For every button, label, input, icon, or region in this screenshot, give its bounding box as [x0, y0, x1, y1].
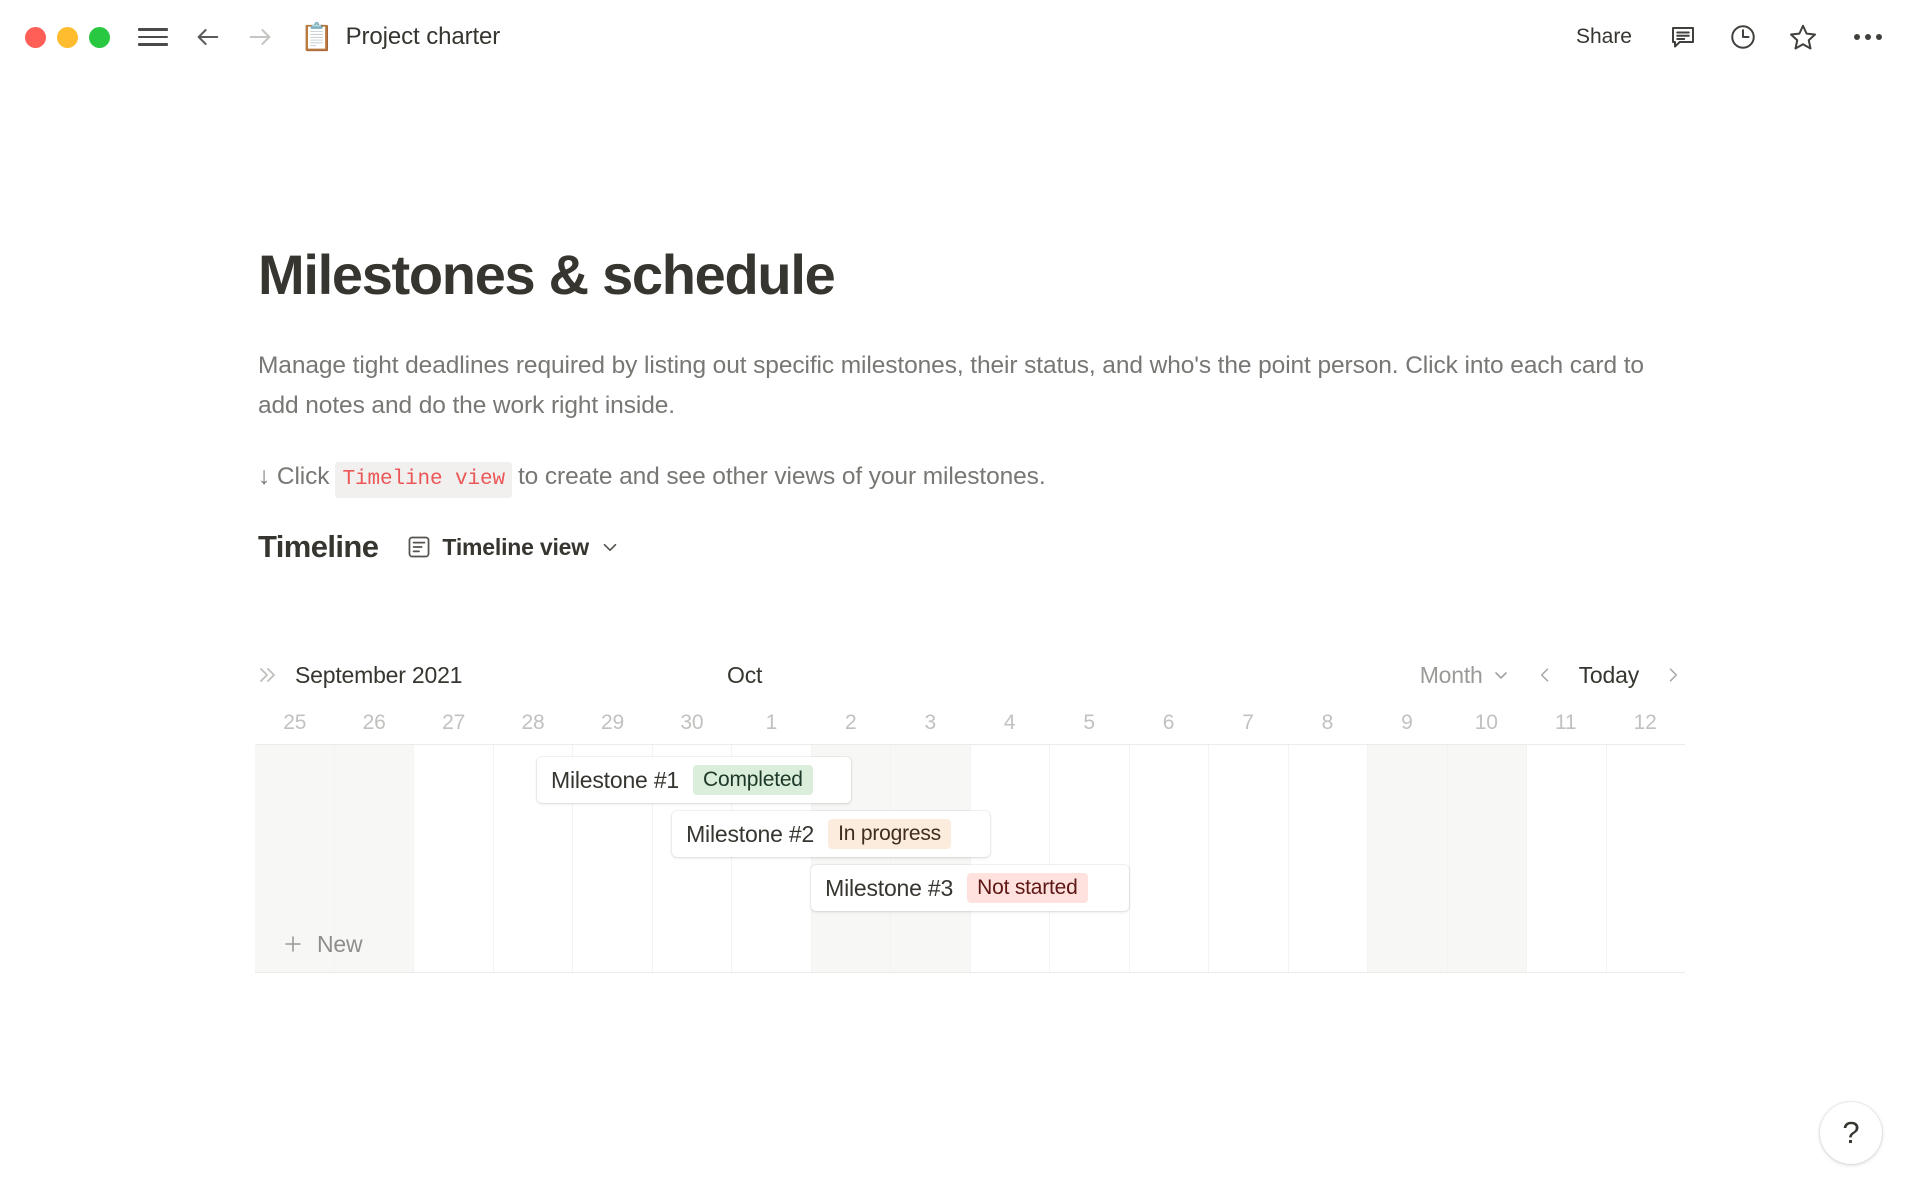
timeline-view-label: Timeline view	[442, 534, 589, 561]
history-clock-icon[interactable]	[1728, 22, 1758, 52]
maximize-window-button[interactable]	[89, 27, 110, 48]
chevron-down-icon	[1491, 665, 1511, 685]
ruler-date-cell: 12	[1605, 711, 1684, 735]
timeline-view-icon	[406, 534, 432, 560]
page-hint: ↓ Click Timeline view to create and see …	[258, 459, 1046, 498]
back-arrow-icon[interactable]	[194, 23, 222, 51]
timeline-board: September 2021 Oct Month Today 25	[255, 649, 1685, 973]
more-options-icon[interactable]	[1848, 28, 1888, 46]
minimize-window-button[interactable]	[57, 27, 78, 48]
ruler-date-cell: 2	[811, 711, 890, 735]
timeline-bar-title: Milestone #2	[686, 821, 814, 848]
ruler-date-cell: 27	[414, 711, 493, 735]
timeline-bar[interactable]: Milestone #2In progress	[672, 811, 990, 857]
ruler-date-cell: 1	[732, 711, 811, 735]
comment-icon[interactable]	[1668, 22, 1698, 52]
navigation-arrows	[194, 23, 274, 51]
plus-icon	[281, 932, 305, 956]
timeline-toolbar: September 2021 Oct Month Today	[255, 649, 1685, 701]
document-title: Project charter	[346, 23, 501, 51]
ruler-date-cell: 10	[1447, 711, 1526, 735]
document-breadcrumb[interactable]: 📋 Project charter	[300, 23, 500, 51]
ruler-date-cell: 25	[255, 711, 334, 735]
add-new-item-button[interactable]: New	[255, 916, 388, 972]
timeline-heading: Timeline	[258, 529, 378, 565]
current-month-label: September 2021	[295, 662, 462, 689]
timeline-month-nav: September 2021	[255, 662, 462, 689]
next-period-icon[interactable]	[1661, 663, 1685, 687]
close-window-button[interactable]	[25, 27, 46, 48]
sidebar-toggle-icon[interactable]	[138, 25, 168, 49]
ruler-date-cell: 28	[493, 711, 572, 735]
ruler-date-cell: 3	[891, 711, 970, 735]
ruler-date-cell: 26	[334, 711, 413, 735]
help-button[interactable]: ?	[1820, 1102, 1882, 1164]
previous-period-icon[interactable]	[1533, 663, 1557, 687]
ruler-date-cell: 9	[1367, 711, 1446, 735]
hint-code-chip: Timeline view	[335, 462, 512, 498]
next-month-label: Oct	[727, 662, 762, 689]
ruler-date-cell: 7	[1208, 711, 1287, 735]
timeline-grid: Milestone #1CompletedMilestone #2In prog…	[255, 745, 1685, 973]
collapse-double-chevron-icon[interactable]	[255, 663, 279, 687]
ruler-date-cell: 8	[1288, 711, 1367, 735]
timeline-bar[interactable]: Milestone #1Completed	[537, 757, 851, 803]
window-titlebar: 📋 Project charter Share	[0, 0, 1920, 74]
forward-arrow-icon[interactable]	[246, 23, 274, 51]
timeline-bar[interactable]: Milestone #3Not started	[811, 865, 1129, 911]
star-icon[interactable]	[1788, 22, 1818, 52]
chevron-down-icon	[599, 536, 621, 558]
ruler-date-cell: 4	[970, 711, 1049, 735]
ruler-date-cell: 29	[573, 711, 652, 735]
status-badge: In progress	[828, 819, 951, 849]
timeline-bar-title: Milestone #1	[551, 767, 679, 794]
timeline-heading-row: Timeline Timeline view	[258, 529, 625, 565]
hint-prefix-text: ↓ Click	[258, 459, 329, 496]
titlebar-actions: Share	[1570, 21, 1888, 53]
ruler-date-cell: 11	[1526, 711, 1605, 735]
ruler-date-cell: 30	[652, 711, 731, 735]
status-badge: Not started	[967, 873, 1088, 903]
add-new-item-label: New	[317, 931, 362, 958]
timeline-bar-title: Milestone #3	[825, 875, 953, 902]
hint-suffix-text: to create and see other views of your mi…	[518, 459, 1046, 496]
timeline-unit-select[interactable]: Month	[1416, 660, 1515, 691]
share-button[interactable]: Share	[1570, 21, 1638, 53]
page-title: Milestones & schedule	[258, 244, 834, 306]
page-description: Manage tight deadlines required by listi…	[258, 346, 1658, 425]
timeline-new-row: New	[255, 916, 1685, 972]
today-button[interactable]: Today	[1575, 660, 1643, 691]
timeline-unit-label: Month	[1420, 662, 1483, 689]
ruler-date-cell: 5	[1049, 711, 1128, 735]
timeline-controls: Month Today	[1416, 660, 1685, 691]
tab-timeline-view[interactable]: Timeline view	[402, 531, 625, 564]
ruler-date-cell: 6	[1129, 711, 1208, 735]
traffic-light-group	[25, 27, 110, 48]
status-badge: Completed	[693, 765, 813, 795]
clipboard-icon: 📋	[300, 24, 334, 51]
timeline-date-ruler: 252627282930123456789101112	[255, 701, 1685, 745]
